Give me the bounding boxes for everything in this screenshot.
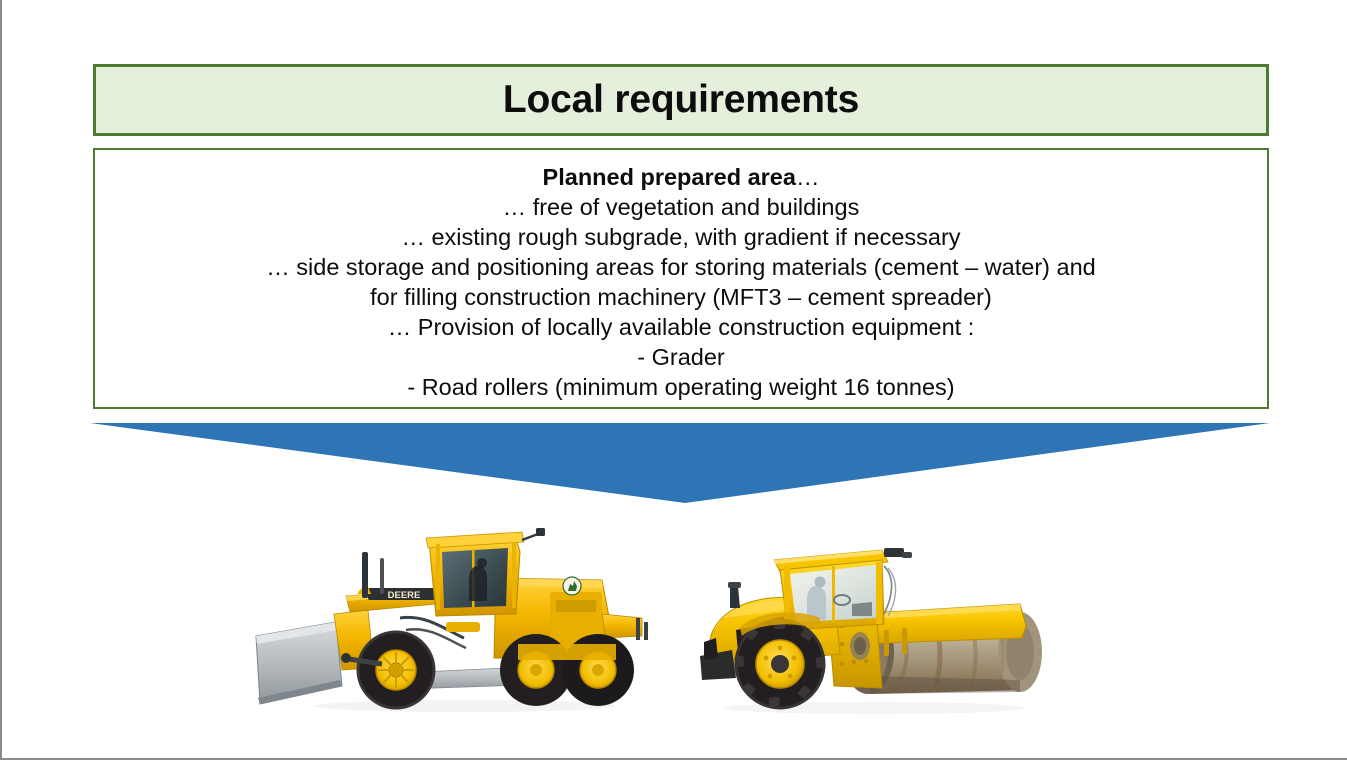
roller-wheel [734,613,825,708]
requirement-line-5: … Provision of locally available constru… [388,312,975,342]
slide-canvas: Local requirements Planned prepared area… [0,0,1347,760]
equipment-images: DEERE [250,518,1080,723]
grader-brand-text: DEERE [388,590,421,601]
requirement-line-4: for filling construction machinery (MFT3… [370,282,992,312]
motor-grader-image: DEERE [250,518,670,723]
requirement-line-6: - Grader [637,342,725,372]
requirement-line-heading: Planned prepared area… [543,162,820,192]
page-title: Local requirements [503,78,859,122]
requirement-heading-ellipsis: … [796,164,820,190]
down-chevron-arrow [90,423,1270,503]
requirement-line-2: … existing rough subgrade, with gradient… [401,222,960,252]
requirement-heading-label: Planned prepared area [543,164,796,190]
requirement-line-7: - Road rollers (minimum operating weight… [407,372,954,402]
slide-title-box: Local requirements [93,64,1269,136]
requirement-line-3: … side storage and positioning areas for… [266,252,1095,282]
requirement-line-1: … free of vegetation and buildings [503,192,860,222]
road-roller-image [670,518,1080,723]
grader-front-wheel [358,632,434,708]
grader-blade [256,622,342,704]
requirements-text-box: Planned prepared area… … free of vegetat… [93,148,1269,409]
grader-rear-wheels [500,634,634,706]
